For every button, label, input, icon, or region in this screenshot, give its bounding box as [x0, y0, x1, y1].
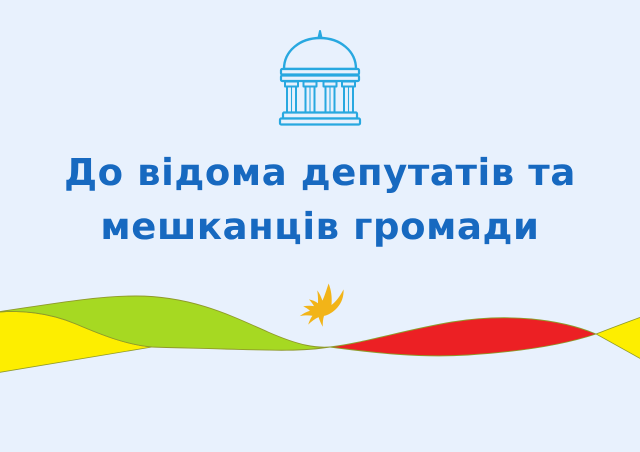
wave-shape-red — [330, 318, 596, 356]
poster-canvas: До відома депутатів та мешканців громади — [0, 0, 640, 452]
page-title-line-1: До відома депутатів та — [0, 146, 640, 200]
page-title: До відома депутатів та мешканців громади — [0, 146, 640, 254]
wave-shape-yellow-right — [596, 314, 640, 364]
page-title-line-2: мешканців громади — [0, 200, 640, 254]
rotunda-icon — [272, 25, 368, 129]
emblem-container — [0, 22, 640, 132]
